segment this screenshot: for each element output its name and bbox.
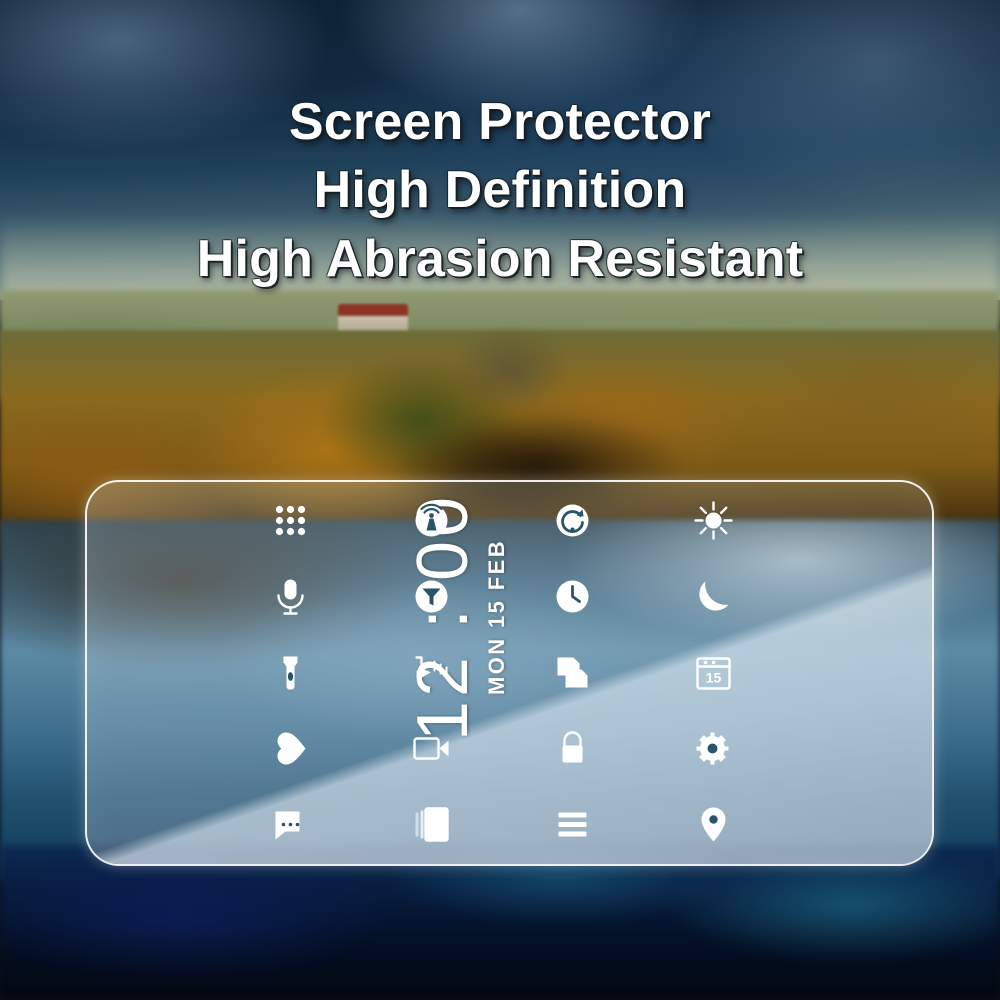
gear-icon[interactable]: [691, 726, 737, 772]
screen-protector-panel: 12 : 00 MON 15 FEB: [85, 480, 934, 866]
lock-icon[interactable]: [550, 726, 596, 772]
crescent-moon-icon[interactable]: [691, 574, 737, 620]
castle-building: [338, 304, 408, 330]
heart-icon[interactable]: [267, 726, 313, 772]
brightness-sun-icon[interactable]: [691, 498, 737, 544]
deep-water: [0, 845, 1000, 1000]
filter-funnel-icon[interactable]: [408, 574, 454, 620]
stacked-pages-icon[interactable]: [408, 802, 454, 848]
headline-block: Screen Protector High Definition High Ab…: [0, 92, 1000, 289]
hotspot-icon[interactable]: [408, 498, 454, 544]
app-grid-icon[interactable]: [267, 498, 313, 544]
quick-settings-grid: 15: [220, 483, 785, 863]
microphone-icon[interactable]: [267, 574, 313, 620]
headline-line-1: Screen Protector: [0, 92, 1000, 152]
copy-duplicate-icon[interactable]: [550, 650, 596, 696]
flashlight-icon[interactable]: [267, 650, 313, 696]
clock-icon[interactable]: [550, 574, 596, 620]
headline-line-2: High Definition: [0, 160, 1000, 220]
equalizer-bars-icon[interactable]: [550, 802, 596, 848]
refresh-rotate-icon[interactable]: [550, 498, 596, 544]
message-bubble-icon[interactable]: [267, 802, 313, 848]
promo-banner: Screen Protector High Definition High Ab…: [0, 0, 1000, 1000]
calendar-icon[interactable]: 15: [691, 650, 737, 696]
shower-icon[interactable]: [408, 650, 454, 696]
headline-line-3: High Abrasion Resistant: [0, 229, 1000, 289]
calendar-day-number: 15: [706, 670, 722, 686]
location-pin-icon[interactable]: [691, 802, 737, 848]
quick-settings-panel: 15: [220, 483, 785, 863]
video-camera-icon[interactable]: [408, 726, 454, 772]
